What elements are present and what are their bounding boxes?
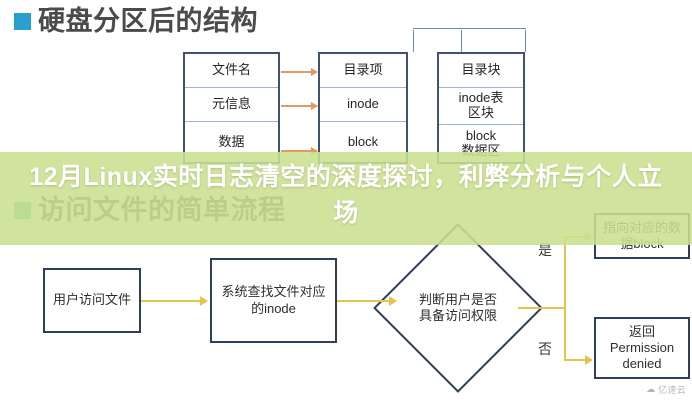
flow-node-permission-check: 判断用户是否具备访问权限: [398, 248, 518, 368]
square-bullet-icon: [14, 13, 31, 30]
flow-node-find-inode: 系统查找文件对应的inode: [210, 258, 337, 343]
arrow-filename-to-direntry: [281, 71, 317, 73]
flow-node-user-access: 用户访问文件: [43, 268, 141, 333]
arrow-user-to-lookup-line: [141, 300, 202, 302]
tick-line-left: [413, 30, 414, 52]
arrow-yes-vertical: [564, 236, 566, 309]
heading-disk-structure: 硬盘分区后的结构: [14, 8, 258, 35]
flow-node-permission-check-label: 判断用户是否具备访问权限: [398, 248, 518, 368]
arrow-lookup-to-check-head: [389, 296, 397, 306]
arrow-yes-horizontal-stub: [518, 307, 566, 309]
file-entry-column: 文件名 元信息 数据: [183, 52, 280, 164]
cell-inode-table: inode表区块: [439, 88, 523, 125]
cell-inode: inode: [320, 88, 406, 122]
cell-metainfo: 元信息: [185, 88, 278, 122]
cell-filename: 文件名: [185, 54, 278, 88]
flow-node-permission-denied: 返回Permissiondenied: [594, 317, 690, 379]
cloud-icon: ☁: [646, 384, 655, 395]
tick-line-top: [413, 28, 526, 29]
arrow-no-vertical: [564, 307, 566, 361]
arrow-no-to-deny-head: [585, 355, 593, 365]
watermark: ☁ 亿速云: [646, 383, 686, 396]
arrow-lookup-to-check-line: [337, 300, 391, 302]
cell-directory-block: 目录块: [439, 54, 523, 88]
heading-disk-structure-label: 硬盘分区后的结构: [38, 8, 258, 35]
tick-line-right: [525, 30, 526, 52]
tick-line-mid: [461, 30, 462, 52]
partition-column: 目录块 inode表区块 block数据区: [437, 52, 525, 164]
screenshot-canvas: 硬盘分区后的结构 文件名 元信息 数据 目录项 inode block 目录块 …: [0, 0, 692, 400]
directory-column: 目录项 inode block: [318, 52, 408, 164]
arrow-user-to-lookup-head: [200, 296, 208, 306]
arrow-meta-to-inode: [281, 105, 317, 107]
cell-direntry: 目录项: [320, 54, 406, 88]
watermark-label: 亿速云: [658, 383, 686, 396]
page-title: 12月Linux实时日志清空的深度探讨，利弊分析与个人立场: [0, 160, 692, 231]
branch-label-no: 否: [538, 339, 552, 359]
